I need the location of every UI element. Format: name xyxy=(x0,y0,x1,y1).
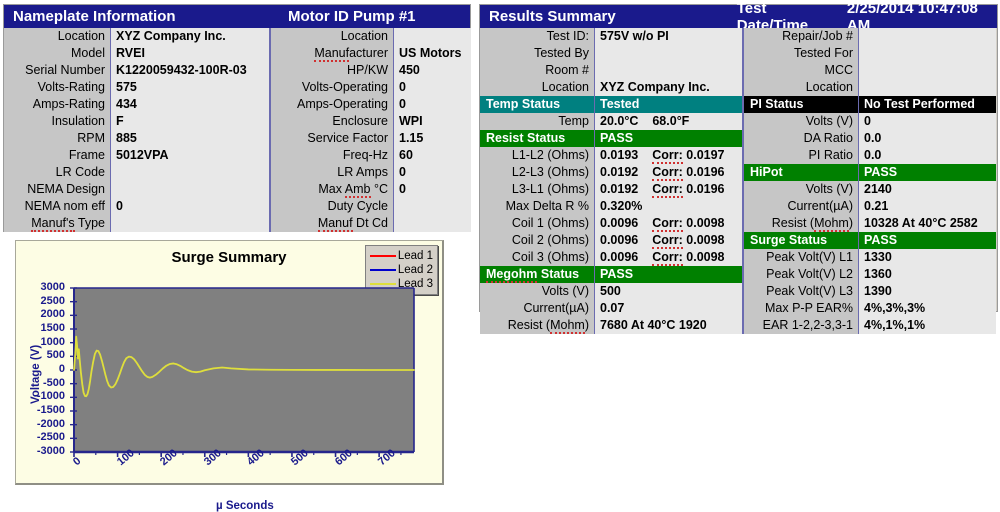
row-label: EAR 1-2,2-3,3-1 xyxy=(744,317,859,334)
surge-summary-chart-panel: Surge Summary Lead 1Lead 2Lead 3 Voltage… xyxy=(15,240,444,485)
table-row: Repair/Job # xyxy=(744,28,996,45)
row-value xyxy=(595,62,742,79)
row-value: 0 xyxy=(111,198,269,215)
results-left-column: Test ID:575V w/o PITested ByRoom #Locati… xyxy=(480,28,742,334)
row-value: 20.0°C68.0°F xyxy=(595,113,742,130)
table-row: LocationXYZ Company Inc. xyxy=(480,79,742,96)
row-value: 575 xyxy=(111,79,269,96)
table-row: Serial NumberK1220059432-100R-03 xyxy=(4,62,269,79)
row-label: Max Delta R % xyxy=(480,198,595,215)
table-row: MCC xyxy=(744,62,996,79)
row-value xyxy=(859,79,996,96)
y-axis-tick-label: 0 xyxy=(59,363,65,375)
results-header: Results Summary Test Date/Time 2/25/2014… xyxy=(480,5,997,28)
table-row: Volts (V)0 xyxy=(744,113,996,130)
table-row: InsulationF xyxy=(4,113,269,130)
table-row: NEMA Design xyxy=(4,181,269,198)
y-axis-tick-label: -2500 xyxy=(37,431,65,443)
row-value-secondary: Corr: 0.0197 xyxy=(652,147,724,164)
nameplate-information-panel: Nameplate Information Motor ID Pump #1 L… xyxy=(3,4,471,232)
table-row: ManufacturerUS Motors xyxy=(271,45,471,62)
chart-x-axis-label: µ Seconds xyxy=(216,500,274,512)
table-row: L2-L3 (Ohms)0.0192Corr: 0.0196 xyxy=(480,164,742,181)
row-label: Freq-Hz xyxy=(271,147,394,164)
row-label: Location xyxy=(480,79,595,96)
table-row: EAR 1-2,2-3,3-14%,1%,1% xyxy=(744,317,996,334)
row-value-secondary: Corr: 0.0196 xyxy=(652,181,724,198)
table-row: PI Ratio0.0 xyxy=(744,147,996,164)
table-row: Manuf Dt Cd xyxy=(271,215,471,232)
row-value-secondary: Corr: 0.0098 xyxy=(652,249,724,266)
row-label: Volts (V) xyxy=(744,181,859,198)
nameplate-header: Nameplate Information Motor ID Pump #1 xyxy=(4,5,470,28)
row-value: Tested xyxy=(595,96,742,113)
row-label: Coil 1 (Ohms) xyxy=(480,215,595,232)
results-title: Results Summary xyxy=(480,8,727,25)
table-row: EnclosureWPI xyxy=(271,113,471,130)
results-grid: Test ID:575V w/o PITested ByRoom #Locati… xyxy=(480,28,997,334)
row-value: 5012VPA xyxy=(111,147,269,164)
row-value: 0.0193Corr: 0.0197 xyxy=(595,147,742,164)
row-value: 60 xyxy=(394,147,471,164)
results-right-column: Repair/Job #Tested ForMCCLocationPI Stat… xyxy=(744,28,996,334)
table-row: Volts-Operating0 xyxy=(271,79,471,96)
y-axis-tick-label: -1500 xyxy=(37,404,65,416)
row-value: 1.15 xyxy=(394,130,471,147)
row-value: K1220059432-100R-03 xyxy=(111,62,269,79)
row-value: 0 xyxy=(394,96,471,113)
table-row: HP/KW450 xyxy=(271,62,471,79)
y-axis-tick-label: -3000 xyxy=(37,445,65,457)
row-label: Volts (V) xyxy=(480,283,595,300)
row-label: Model xyxy=(4,45,111,62)
row-label: Megohm Status xyxy=(480,266,595,283)
row-value: 434 xyxy=(111,96,269,113)
row-label: Peak Volt(V) L1 xyxy=(744,249,859,266)
table-row: L1-L2 (Ohms)0.0193Corr: 0.0197 xyxy=(480,147,742,164)
y-axis-tick-label: 2000 xyxy=(41,308,65,320)
table-row: Volts (V)2140 xyxy=(744,181,996,198)
table-row: NEMA nom eff0 xyxy=(4,198,269,215)
row-label: Location xyxy=(4,28,111,45)
row-label: Peak Volt(V) L2 xyxy=(744,266,859,283)
row-value: 0.21 xyxy=(859,198,996,215)
row-label: Tested By xyxy=(480,45,595,62)
nameplate-left-column: LocationXYZ Company Inc.ModelRVEISerial … xyxy=(4,28,269,232)
row-value: PASS xyxy=(595,266,742,283)
table-row: L3-L1 (Ohms)0.0192Corr: 0.0196 xyxy=(480,181,742,198)
row-value-secondary: Corr: 0.0098 xyxy=(652,232,724,249)
row-value xyxy=(111,181,269,198)
row-value: PASS xyxy=(859,232,996,249)
row-label: Temp xyxy=(480,113,595,130)
row-value-primary: 20.0°C xyxy=(600,113,638,130)
row-label: Max P-P EAR% xyxy=(744,300,859,317)
row-value: No Test Performed xyxy=(859,96,996,113)
row-label: PI Status xyxy=(744,96,859,113)
row-label: NEMA Design xyxy=(4,181,111,198)
row-value: 0.320% xyxy=(595,198,742,215)
table-row: Volts-Rating575 xyxy=(4,79,269,96)
row-value: 0.0096Corr: 0.0098 xyxy=(595,215,742,232)
table-row: Resist (Mohm)7680 At 40°C 1920 xyxy=(480,317,742,334)
row-value: 0.07 xyxy=(595,300,742,317)
row-value-primary: 0.0096 xyxy=(600,232,638,249)
row-label: Repair/Job # xyxy=(744,28,859,45)
row-label: DA Ratio xyxy=(744,130,859,147)
table-row: Coil 2 (Ohms)0.0096Corr: 0.0098 xyxy=(480,232,742,249)
row-label: Manuf's Type xyxy=(4,215,111,232)
row-value: 4%,3%,3% xyxy=(859,300,996,317)
row-label: Volts (V) xyxy=(744,113,859,130)
row-value-secondary: Corr: 0.0196 xyxy=(652,164,724,181)
row-value: 0.0 xyxy=(859,147,996,164)
row-label: Peak Volt(V) L3 xyxy=(744,283,859,300)
row-value xyxy=(111,164,269,181)
y-axis-tick-label: 2500 xyxy=(41,295,65,307)
table-row: Resist (Mohm)10328 At 40°C 2582 xyxy=(744,215,996,232)
row-value: 0.0 xyxy=(859,130,996,147)
row-value: 0.0096Corr: 0.0098 xyxy=(595,232,742,249)
row-value xyxy=(394,215,471,232)
row-label: LR Code xyxy=(4,164,111,181)
row-label: Enclosure xyxy=(271,113,394,130)
row-value xyxy=(111,215,269,232)
results-summary-panel: Results Summary Test Date/Time 2/25/2014… xyxy=(479,4,998,312)
row-label: Resist Status xyxy=(480,130,595,147)
table-row: Peak Volt(V) L31390 xyxy=(744,283,996,300)
row-value-secondary: 68.0°F xyxy=(652,113,689,130)
row-label: Test ID: xyxy=(480,28,595,45)
row-value: WPI xyxy=(394,113,471,130)
table-row: Coil 3 (Ohms)0.0096Corr: 0.0098 xyxy=(480,249,742,266)
row-value-primary: 0.0096 xyxy=(600,249,638,266)
row-value: XYZ Company Inc. xyxy=(111,28,269,45)
row-value: 885 xyxy=(111,130,269,147)
table-row: Duty Cycle xyxy=(271,198,471,215)
row-value xyxy=(394,28,471,45)
y-axis-tick-label: 3000 xyxy=(41,281,65,293)
row-label: Volts-Operating xyxy=(271,79,394,96)
table-row: Amps-Rating434 xyxy=(4,96,269,113)
table-row: Frame5012VPA xyxy=(4,147,269,164)
row-value: F xyxy=(111,113,269,130)
table-row: Amps-Operating0 xyxy=(271,96,471,113)
row-value xyxy=(859,28,996,45)
row-value xyxy=(595,45,742,62)
row-value: 0.0096Corr: 0.0098 xyxy=(595,249,742,266)
table-row: Max P-P EAR%4%,3%,3% xyxy=(744,300,996,317)
row-value-primary: 0.0193 xyxy=(600,147,638,164)
y-axis-tick-label: 1500 xyxy=(41,322,65,334)
row-value: 1390 xyxy=(859,283,996,300)
table-row: Coil 1 (Ohms)0.0096Corr: 0.0098 xyxy=(480,215,742,232)
row-label: LR Amps xyxy=(271,164,394,181)
row-label: L1-L2 (Ohms) xyxy=(480,147,595,164)
row-label: L3-L1 (Ohms) xyxy=(480,181,595,198)
table-row: Resist StatusPASS xyxy=(480,130,742,147)
y-axis-tick-label: -1000 xyxy=(37,390,65,402)
row-value: 1360 xyxy=(859,266,996,283)
row-label: Surge Status xyxy=(744,232,859,249)
row-label: Amps-Rating xyxy=(4,96,111,113)
row-value-primary: 0.0192 xyxy=(600,181,638,198)
y-axis-tick-label: -500 xyxy=(43,377,65,389)
row-label: Frame xyxy=(4,147,111,164)
row-value: RVEI xyxy=(111,45,269,62)
report-page: Nameplate Information Motor ID Pump #1 L… xyxy=(0,0,1000,512)
row-label: Manuf Dt Cd xyxy=(271,215,394,232)
row-label: PI Ratio xyxy=(744,147,859,164)
table-row: Room # xyxy=(480,62,742,79)
row-value-primary: 0.0096 xyxy=(600,215,638,232)
y-axis-tick-label: -2000 xyxy=(37,418,65,430)
y-axis-tick-label: 1000 xyxy=(41,336,65,348)
table-row: Current(µA)0.07 xyxy=(480,300,742,317)
table-row: Peak Volt(V) L11330 xyxy=(744,249,996,266)
table-row: ModelRVEI xyxy=(4,45,269,62)
table-row: Temp20.0°C68.0°F xyxy=(480,113,742,130)
row-value: PASS xyxy=(859,164,996,181)
row-label: Tested For xyxy=(744,45,859,62)
nameplate-title-right: Motor ID Pump #1 xyxy=(278,8,416,25)
table-row: LR Amps0 xyxy=(271,164,471,181)
row-label: Location xyxy=(744,79,859,96)
table-row: Peak Volt(V) L21360 xyxy=(744,266,996,283)
chart-plot-area xyxy=(16,241,445,486)
table-row: Test ID:575V w/o PI xyxy=(480,28,742,45)
row-label: Duty Cycle xyxy=(271,198,394,215)
table-row: LR Code xyxy=(4,164,269,181)
row-label: HiPot xyxy=(744,164,859,181)
row-value: 7680 At 40°C 1920 xyxy=(595,317,742,334)
row-label: Coil 3 (Ohms) xyxy=(480,249,595,266)
row-value: 1330 xyxy=(859,249,996,266)
row-label: Service Factor xyxy=(271,130,394,147)
row-label: RPM xyxy=(4,130,111,147)
row-label: Serial Number xyxy=(4,62,111,79)
row-value: 0 xyxy=(394,181,471,198)
table-row: Tested By xyxy=(480,45,742,62)
chart-svg xyxy=(16,241,445,486)
y-axis-tick-label: 500 xyxy=(47,349,65,361)
row-label: Insulation xyxy=(4,113,111,130)
row-label: Resist (Mohm) xyxy=(744,215,859,232)
table-row: Manuf's Type xyxy=(4,215,269,232)
nameplate-right-column: LocationManufacturerUS MotorsHP/KW450Vol… xyxy=(271,28,471,232)
row-value: 0 xyxy=(859,113,996,130)
table-row: Service Factor1.15 xyxy=(271,130,471,147)
row-label: L2-L3 (Ohms) xyxy=(480,164,595,181)
row-label: Manufacturer xyxy=(271,45,394,62)
row-label: Location xyxy=(271,28,394,45)
table-row: Max Amb °C0 xyxy=(271,181,471,198)
row-label: Amps-Operating xyxy=(271,96,394,113)
row-value: US Motors xyxy=(394,45,471,62)
nameplate-title-left: Nameplate Information xyxy=(4,8,278,25)
table-row: Max Delta R %0.320% xyxy=(480,198,742,215)
row-label: NEMA nom eff xyxy=(4,198,111,215)
row-label: Current(µA) xyxy=(480,300,595,317)
table-row: Current(µA)0.21 xyxy=(744,198,996,215)
table-row: HiPotPASS xyxy=(744,164,996,181)
row-value: 0.0192Corr: 0.0196 xyxy=(595,164,742,181)
row-value: 500 xyxy=(595,283,742,300)
row-label: Max Amb °C xyxy=(271,181,394,198)
row-value: XYZ Company Inc. xyxy=(595,79,742,96)
table-row: RPM885 xyxy=(4,130,269,147)
table-row: DA Ratio0.0 xyxy=(744,130,996,147)
row-label: Resist (Mohm) xyxy=(480,317,595,334)
row-label: MCC xyxy=(744,62,859,79)
table-row: Volts (V)500 xyxy=(480,283,742,300)
row-label: HP/KW xyxy=(271,62,394,79)
row-value: 4%,1%,1% xyxy=(859,317,996,334)
row-value: 0 xyxy=(394,164,471,181)
row-label: Temp Status xyxy=(480,96,595,113)
row-label: Current(µA) xyxy=(744,198,859,215)
table-row: Freq-Hz60 xyxy=(271,147,471,164)
table-row: LocationXYZ Company Inc. xyxy=(4,28,269,45)
row-value-primary: 0.0192 xyxy=(600,164,638,181)
row-value xyxy=(394,198,471,215)
row-value: 0 xyxy=(394,79,471,96)
row-value xyxy=(859,62,996,79)
row-value: PASS xyxy=(595,130,742,147)
row-value-secondary: Corr: 0.0098 xyxy=(652,215,724,232)
row-value: 575V w/o PI xyxy=(595,28,742,45)
row-label: Coil 2 (Ohms) xyxy=(480,232,595,249)
table-row: Megohm StatusPASS xyxy=(480,266,742,283)
table-row: Tested For xyxy=(744,45,996,62)
table-row: Location xyxy=(271,28,471,45)
table-row: Surge StatusPASS xyxy=(744,232,996,249)
row-label: Volts-Rating xyxy=(4,79,111,96)
table-row: PI StatusNo Test Performed xyxy=(744,96,996,113)
row-label: Room # xyxy=(480,62,595,79)
nameplate-grid: LocationXYZ Company Inc.ModelRVEISerial … xyxy=(4,28,470,232)
table-row: Temp StatusTested xyxy=(480,96,742,113)
table-row: Location xyxy=(744,79,996,96)
row-value xyxy=(859,45,996,62)
row-value: 0.0192Corr: 0.0196 xyxy=(595,181,742,198)
row-value: 2140 xyxy=(859,181,996,198)
row-value: 10328 At 40°C 2582 xyxy=(859,215,996,232)
row-value: 450 xyxy=(394,62,471,79)
